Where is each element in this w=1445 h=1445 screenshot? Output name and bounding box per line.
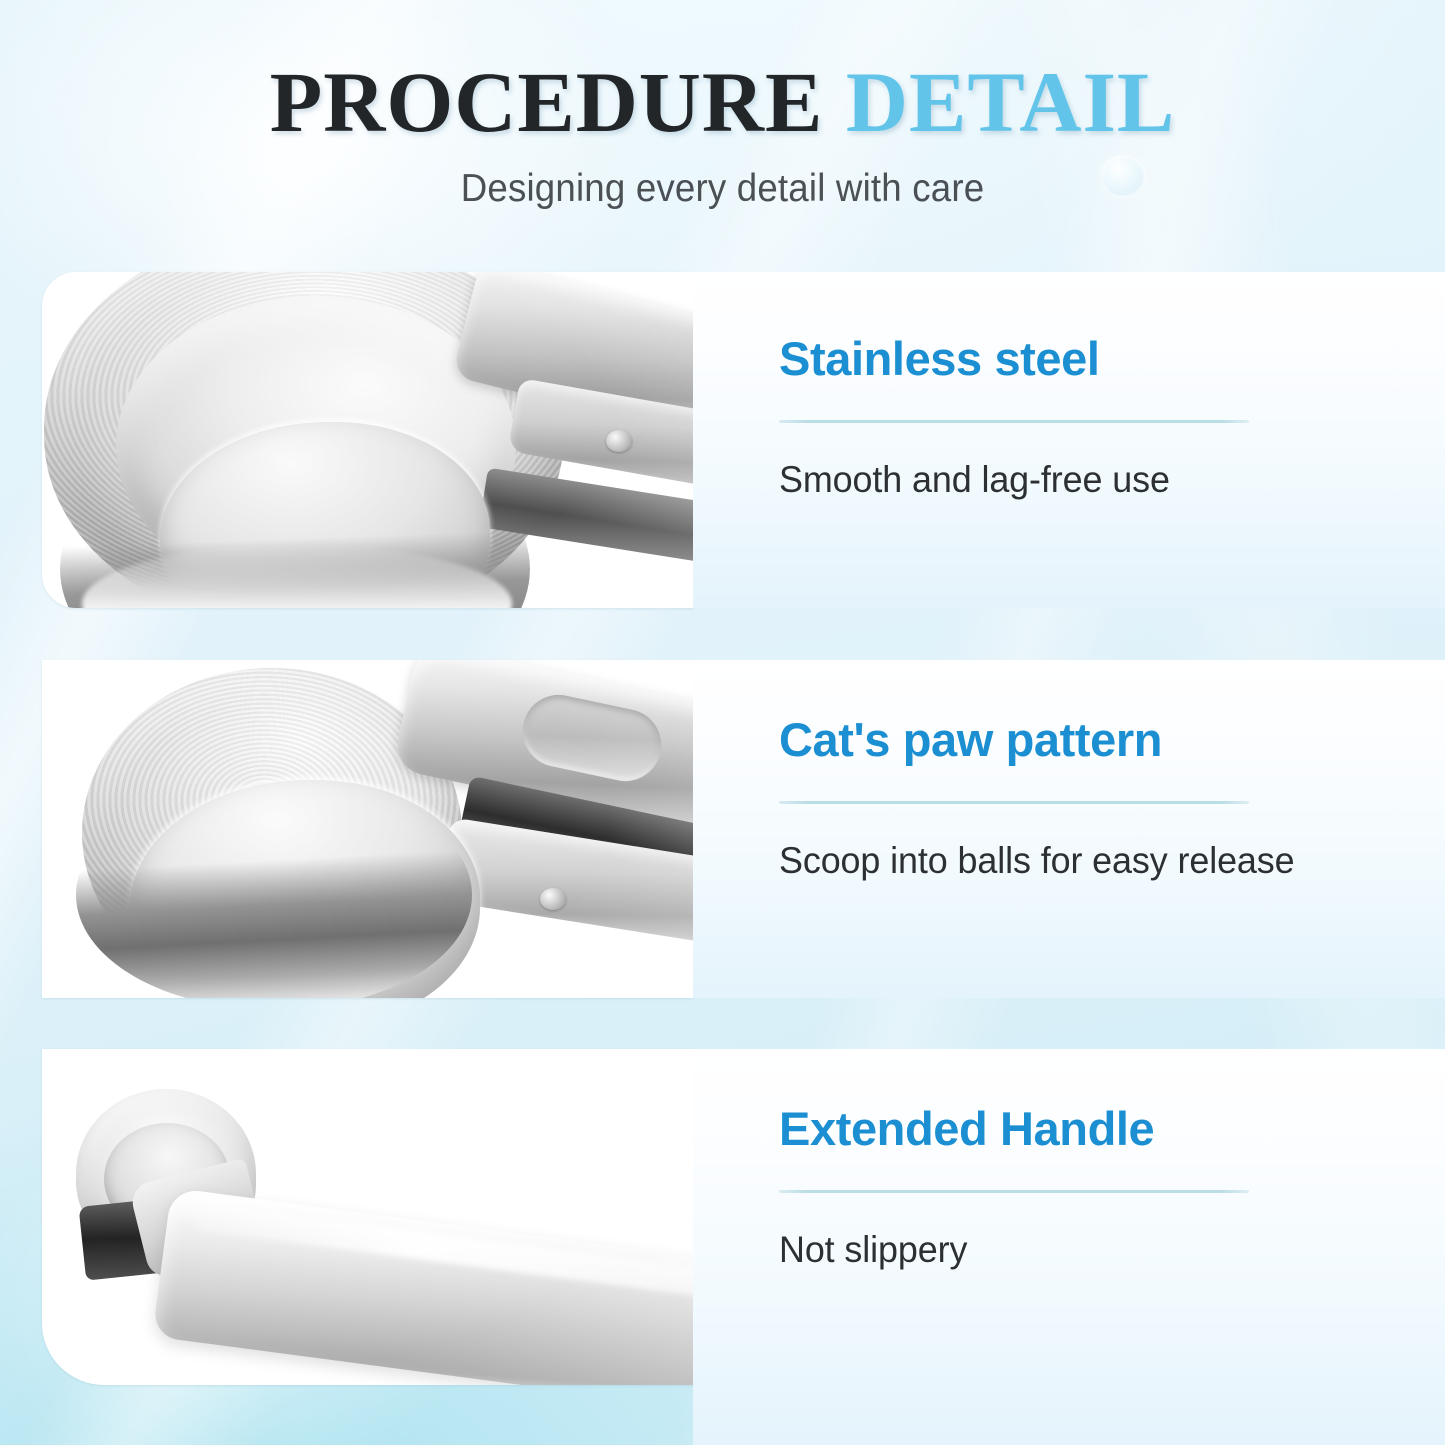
- feature-divider-3: [779, 1190, 1249, 1193]
- product-photo-extended-handle: [42, 1049, 693, 1385]
- page-title-primary: PROCEDURE: [270, 54, 824, 150]
- handle-rivet: [606, 430, 632, 452]
- feature-title-3: Extended Handle: [779, 1101, 1154, 1156]
- feature-description-3: Not slippery: [779, 1229, 967, 1271]
- page-subtitle: Designing every detail with care: [461, 167, 985, 211]
- page-title-accent: DETAIL: [846, 54, 1175, 150]
- scoop-bowl-lip: [76, 780, 472, 998]
- header: PROCEDURE DETAIL Designing every detail …: [0, 0, 1445, 252]
- feature-description-1: Smooth and lag-free use: [779, 459, 1170, 501]
- feature-text-card-2: Cat's paw pattern Scoop into balls for e…: [693, 660, 1445, 998]
- feature-description-2: Scoop into balls for easy release: [779, 840, 1295, 882]
- feature-divider-2: [779, 801, 1249, 804]
- feature-row-3: Extended Handle Not slippery: [0, 1049, 1445, 1385]
- feature-text-card-3: Extended Handle Not slippery: [693, 1049, 1445, 1445]
- feature-title-2: Cat's paw pattern: [779, 712, 1162, 767]
- handle-rivet: [540, 888, 566, 910]
- feature-divider-1: [779, 420, 1249, 423]
- water-droplet-icon: [1101, 155, 1145, 197]
- feature-text-card-1: Stainless steel Smooth and lag-free use: [693, 272, 1445, 608]
- product-photo-paw-pattern-scoops: [42, 660, 693, 998]
- infographic-page: PROCEDURE DETAIL Designing every detail …: [0, 0, 1445, 1445]
- page-title: PROCEDURE DETAIL: [270, 58, 1176, 147]
- feature-row-2: Cat's paw pattern Scoop into balls for e…: [0, 660, 1445, 998]
- product-photo-scoop-bowl-closeup: [42, 272, 693, 608]
- feature-title-1: Stainless steel: [779, 331, 1100, 386]
- feature-row-1: Stainless steel Smooth and lag-free use: [0, 272, 1445, 608]
